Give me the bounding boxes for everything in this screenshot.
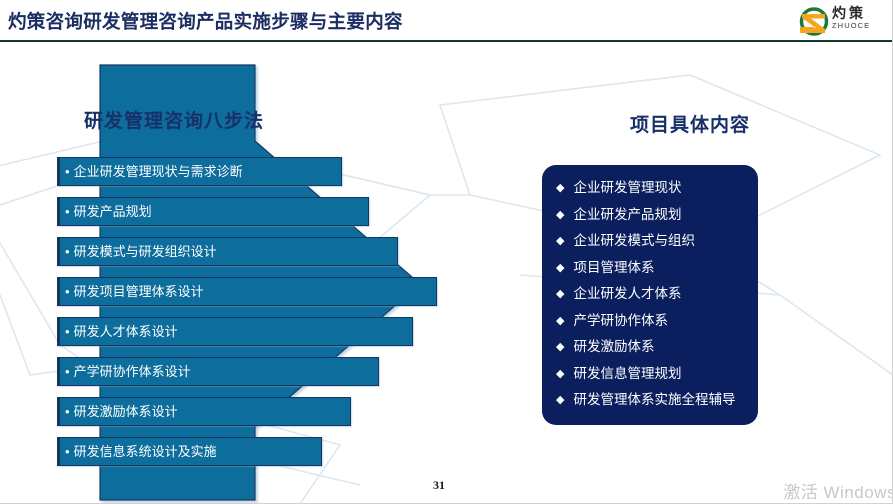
diamond-bullet-icon: ◆ <box>556 284 564 304</box>
step-bullet-icon: • <box>60 285 70 298</box>
zhuoce-z-logo-icon <box>799 7 829 36</box>
diamond-bullet-icon: ◆ <box>556 258 564 278</box>
logo-wordmark: 灼策 ZHUOCE <box>832 5 884 31</box>
logo-english-name: ZHUOCE <box>832 21 884 31</box>
step-bar[interactable]: • 研发信息系统设计及实施 <box>57 437 322 466</box>
list-item-label: 企业研发管理现状 <box>573 178 681 198</box>
windows-activation-watermark: 激活 Windows <box>783 478 893 503</box>
left-panel-heading: 研发管理咨询八步法 <box>84 106 264 133</box>
list-item[interactable]: ◆ 企业研发产品规划 <box>542 205 758 225</box>
list-item[interactable]: ◆ 项目管理体系 <box>542 258 758 278</box>
list-item[interactable]: ◆ 研发激励体系 <box>542 337 758 357</box>
project-content-box: ◆ 企业研发管理现状 ◆ 企业研发产品规划 ◆ 企业研发模式与组织 ◆ 项目管理… <box>542 165 758 425</box>
diamond-bullet-icon: ◆ <box>556 311 564 331</box>
eight-step-diagram: 研发管理咨询八步法 • 企业研发管理现状与需求诊断 • 研发产品规划 • 研发模… <box>0 45 460 504</box>
list-item[interactable]: ◆ 企业研发管理现状 <box>542 178 758 198</box>
list-item[interactable]: ◆ 产学研协作体系 <box>542 311 758 331</box>
step-bar[interactable]: • 企业研发管理现状与需求诊断 <box>57 157 342 186</box>
company-logo: 灼策 ZHUOCE <box>799 5 885 37</box>
slide-header: 灼策咨询研发管理咨询产品实施步骤与主要内容 灼策 ZHUOCE <box>0 0 893 42</box>
list-item-label: 研发信息管理规划 <box>573 364 681 384</box>
list-item-label: 企业研发产品规划 <box>573 205 681 225</box>
step-bullet-icon: • <box>60 165 70 178</box>
logo-chinese-name: 灼策 <box>832 5 884 21</box>
header-divider <box>0 40 893 42</box>
step-label: 研发人才体系设计 <box>70 325 178 338</box>
step-bar[interactable]: • 研发产品规划 <box>57 197 369 226</box>
list-item[interactable]: ◆ 企业研发模式与组织 <box>542 231 758 251</box>
list-item[interactable]: ◆ 研发信息管理规划 <box>542 364 758 384</box>
list-item-label: 企业研发人才体系 <box>573 284 681 304</box>
diamond-bullet-icon: ◆ <box>556 390 564 410</box>
step-label: 产学研协作体系设计 <box>70 365 191 378</box>
list-item-label: 企业研发模式与组织 <box>573 231 695 251</box>
step-bullet-icon: • <box>60 205 70 218</box>
step-bar[interactable]: • 研发项目管理体系设计 <box>57 277 437 306</box>
step-label: 研发信息系统设计及实施 <box>70 445 217 458</box>
list-item[interactable]: ◆ 企业研发人才体系 <box>542 284 758 304</box>
right-panel-heading: 项目具体内容 <box>520 110 860 137</box>
list-item[interactable]: ◆ 研发管理体系实施全程辅导 <box>542 390 758 410</box>
step-label: 研发模式与研发组织设计 <box>70 245 217 258</box>
step-bullet-icon: • <box>60 445 70 458</box>
step-bullet-icon: • <box>60 405 70 418</box>
step-label: 研发激励体系设计 <box>70 405 178 418</box>
page-title: 灼策咨询研发管理咨询产品实施步骤与主要内容 <box>8 8 403 34</box>
diamond-bullet-icon: ◆ <box>556 231 564 251</box>
step-bullet-icon: • <box>60 325 70 338</box>
step-bar[interactable]: • 研发人才体系设计 <box>57 317 413 346</box>
project-content-panel: 项目具体内容 ◆ 企业研发管理现状 ◆ 企业研发产品规划 ◆ 企业研发模式与组织… <box>520 45 893 504</box>
diamond-bullet-icon: ◆ <box>556 205 564 225</box>
list-item-label: 产学研协作体系 <box>573 311 668 331</box>
list-item-label: 项目管理体系 <box>573 258 654 278</box>
diamond-bullet-icon: ◆ <box>556 364 564 384</box>
step-bar[interactable]: • 产学研协作体系设计 <box>57 357 379 386</box>
list-item-label: 研发激励体系 <box>573 337 654 357</box>
list-item-label: 研发管理体系实施全程辅导 <box>573 390 735 410</box>
step-label: 企业研发管理现状与需求诊断 <box>70 165 243 178</box>
step-bar[interactable]: • 研发模式与研发组织设计 <box>57 237 398 266</box>
step-bar[interactable]: • 研发激励体系设计 <box>57 397 351 426</box>
step-bullet-icon: • <box>60 245 70 258</box>
step-bullet-icon: • <box>60 365 70 378</box>
diamond-bullet-icon: ◆ <box>556 337 564 357</box>
diamond-bullet-icon: ◆ <box>556 178 564 198</box>
step-label: 研发项目管理体系设计 <box>70 285 204 298</box>
step-label: 研发产品规划 <box>70 205 152 218</box>
slide-canvas: 灼策咨询研发管理咨询产品实施步骤与主要内容 灼策 ZHUOCE 研发管理 <box>0 0 893 504</box>
page-number: 31 <box>433 478 445 493</box>
